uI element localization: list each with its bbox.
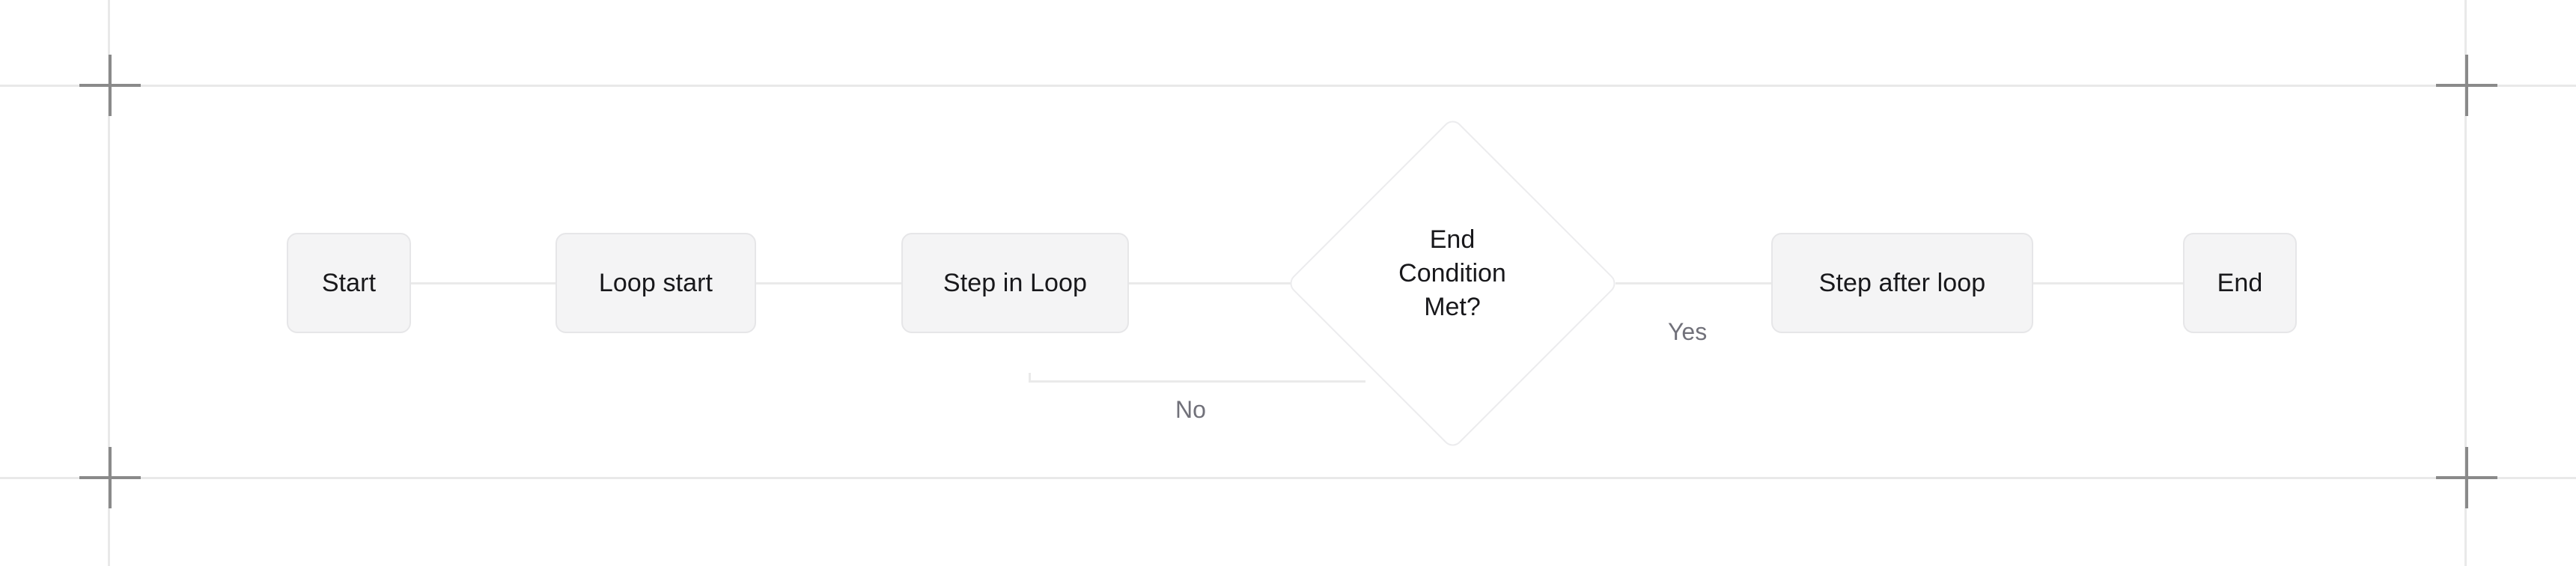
node-end-condition-label: End Condition Met? — [1310, 223, 1595, 324]
crosshair-vertical-bar — [109, 55, 112, 116]
edge-no-loopback-horizontal[interactable] — [1029, 380, 1365, 383]
edge-loop-start-to-step-in-loop[interactable] — [756, 282, 901, 284]
crosshair-vertical-bar — [109, 447, 112, 508]
crosshair-vertical-bar — [2465, 447, 2468, 508]
edge-step-after-loop-to-end[interactable] — [2033, 282, 2183, 284]
node-step-after-loop[interactable]: Step after loop — [1771, 233, 2033, 333]
edge-no-loopback-vertical[interactable] — [1029, 373, 1031, 383]
flowchart-canvas[interactable]: Yes No Start Loop start Step in Loop End… — [0, 0, 2576, 566]
node-end[interactable]: End — [2183, 233, 2297, 333]
edge-label-no: No — [1175, 395, 1206, 424]
diamond-label-line-3: Met? — [1310, 290, 1595, 324]
crosshair-vertical-bar — [2465, 55, 2468, 116]
diamond-label-line-1: End — [1310, 223, 1595, 257]
diamond-label-line-2: Condition — [1310, 257, 1595, 290]
edge-start-to-loop-start[interactable] — [411, 282, 555, 284]
edge-label-yes: Yes — [1668, 317, 1707, 346]
node-loop-start[interactable]: Loop start — [555, 233, 756, 333]
node-start[interactable]: Start — [287, 233, 411, 333]
guide-line-top — [0, 85, 2576, 87]
edge-step-in-loop-to-end-condition[interactable] — [1129, 282, 1291, 284]
edge-end-condition-to-step-after-loop[interactable] — [1616, 282, 1771, 284]
node-step-in-loop[interactable]: Step in Loop — [901, 233, 1129, 333]
guide-line-bottom — [0, 477, 2576, 479]
